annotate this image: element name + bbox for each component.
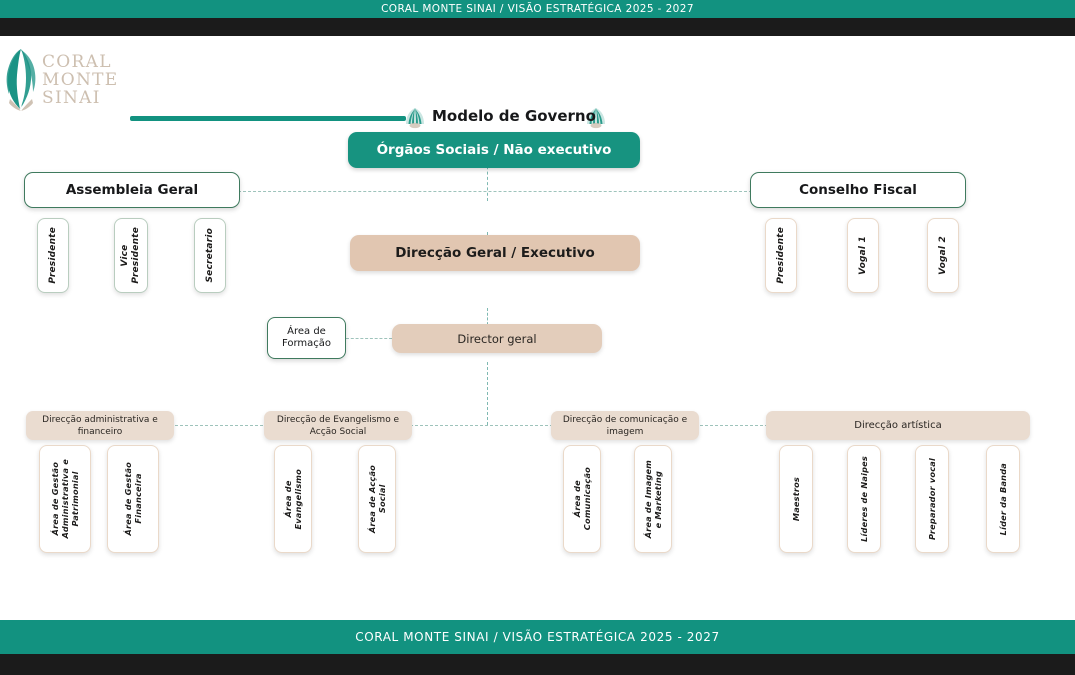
node-assembly-member-1-label: Presidente	[48, 227, 59, 284]
node-dept1-area-2-label: Área de Gestão Financeira	[123, 462, 143, 536]
node-fiscal-member-1-label: Presidente	[776, 227, 787, 284]
brand-line-3: SINAI	[42, 89, 118, 107]
node-fiscal-member-3[interactable]: Vogal 2	[927, 218, 959, 293]
node-fiscal-member-1[interactable]: Presidente	[765, 218, 797, 293]
node-dept4-area-2[interactable]: Líderes de Naipes	[847, 445, 881, 553]
node-dept2-area-1[interactable]: Área de Evangelismo	[274, 445, 312, 553]
brand-logo: CORAL MONTE SINAI	[4, 44, 134, 116]
connector-bus-organs-row	[238, 191, 752, 192]
slide-root: CORAL MONTE SINAI / VISÃO ESTRATÉGICA 20…	[0, 0, 1075, 675]
node-dept4-area-1[interactable]: Maestros	[779, 445, 813, 553]
coral-feather-icon	[4, 47, 38, 113]
dark-strip-bottom	[0, 654, 1075, 675]
node-area-formacao-label: Área de Formação	[282, 326, 331, 350]
node-dept2-area-2-label: Área de Acção Social	[367, 465, 387, 533]
shell-emblem-left-icon	[404, 106, 426, 130]
node-director-geral[interactable]: Director geral	[392, 324, 602, 353]
footer-banner: CORAL MONTE SINAI / VISÃO ESTRATÉGICA 20…	[0, 620, 1075, 654]
node-department-1[interactable]: Direcção administrativa e financeiro	[26, 411, 174, 440]
node-dept4-area-3[interactable]: Preparador vocal	[915, 445, 949, 553]
node-director-geral-label: Director geral	[457, 332, 536, 346]
node-assembleia-geral[interactable]: Assembleia Geral	[24, 172, 240, 208]
node-department-1-label: Direcção administrativa e financeiro	[31, 414, 169, 438]
connector-director-training	[346, 338, 392, 339]
node-dept3-area-1[interactable]: Área de Comunicação	[563, 445, 601, 553]
node-dept1-area-1[interactable]: Área de Gestão Administrativa e Patrimon…	[39, 445, 91, 553]
connector-spine-director-bus	[487, 362, 488, 425]
node-assembleia-geral-label: Assembleia Geral	[66, 182, 198, 198]
node-department-4-label: Direcção artística	[854, 420, 941, 432]
node-fiscal-member-3-label: Vogal 2	[938, 236, 949, 275]
node-department-2[interactable]: Direcção de Evangelismo e Acção Social	[264, 411, 412, 440]
node-assembly-member-3[interactable]: Secretario	[194, 218, 226, 293]
node-assembly-member-3-label: Secretario	[205, 228, 216, 283]
header-rule-left	[130, 116, 406, 121]
brand-wordmark: CORAL MONTE SINAI	[42, 53, 118, 107]
node-department-3-label: Direcção de comunicação e imagem	[556, 414, 694, 438]
node-department-2-label: Direcção de Evangelismo e Acção Social	[269, 414, 407, 438]
node-dept2-area-1-label: Área de Evangelismo	[283, 469, 303, 530]
node-dept4-area-4[interactable]: Líder da Banda	[986, 445, 1020, 553]
node-dept3-area-2[interactable]: Área de Imagem e Marketing	[634, 445, 672, 553]
node-area-formacao[interactable]: Área de Formação	[267, 317, 346, 359]
node-direccao-geral[interactable]: Direcção Geral / Executivo	[350, 235, 640, 271]
node-assembly-member-1[interactable]: Presidente	[37, 218, 69, 293]
page-title: Modelo de Governo	[432, 107, 582, 125]
footer-banner-text: CORAL MONTE SINAI / VISÃO ESTRATÉGICA 20…	[355, 630, 720, 644]
node-conselho-fiscal[interactable]: Conselho Fiscal	[750, 172, 966, 208]
node-organs-sociais[interactable]: Órgãos Sociais / Não executivo	[348, 132, 640, 168]
node-fiscal-member-2-label: Vogal 1	[858, 236, 869, 275]
dark-strip-top	[0, 18, 1075, 36]
node-fiscal-member-2[interactable]: Vogal 1	[847, 218, 879, 293]
node-dept1-area-2[interactable]: Área de Gestão Financeira	[107, 445, 159, 553]
top-banner: CORAL MONTE SINAI / VISÃO ESTRATÉGICA 20…	[0, 0, 1075, 18]
node-direccao-geral-label: Direcção Geral / Executivo	[395, 245, 595, 261]
node-dept3-area-1-label: Área de Comunicação	[572, 467, 592, 530]
node-dept2-area-2[interactable]: Área de Acção Social	[358, 445, 396, 553]
node-dept1-area-1-label: Área de Gestão Administrativa e Patrimon…	[50, 459, 80, 538]
node-dept4-area-2-label: Líderes de Naipes	[859, 456, 869, 542]
node-assembly-member-2[interactable]: Vice Presidente	[114, 218, 148, 293]
node-department-3[interactable]: Direcção de comunicação e imagem	[551, 411, 699, 440]
node-dept3-area-2-label: Área de Imagem e Marketing	[643, 460, 663, 538]
brand-line-1: CORAL	[42, 53, 118, 71]
node-dept4-area-1-label: Maestros	[791, 477, 801, 521]
node-department-4[interactable]: Direcção artística	[766, 411, 1030, 440]
node-conselho-fiscal-label: Conselho Fiscal	[799, 182, 917, 198]
node-dept4-area-3-label: Preparador vocal	[927, 458, 937, 540]
node-dept4-area-4-label: Líder da Banda	[998, 463, 1008, 535]
brand-line-2: MONTE	[42, 71, 118, 89]
node-assembly-member-2-label: Vice Presidente	[120, 227, 142, 284]
slide-canvas: CORAL MONTE SINAI	[0, 36, 1075, 620]
top-banner-text: CORAL MONTE SINAI / VISÃO ESTRATÉGICA 20…	[381, 3, 694, 15]
node-organs-sociais-label: Órgãos Sociais / Não executivo	[377, 142, 612, 158]
